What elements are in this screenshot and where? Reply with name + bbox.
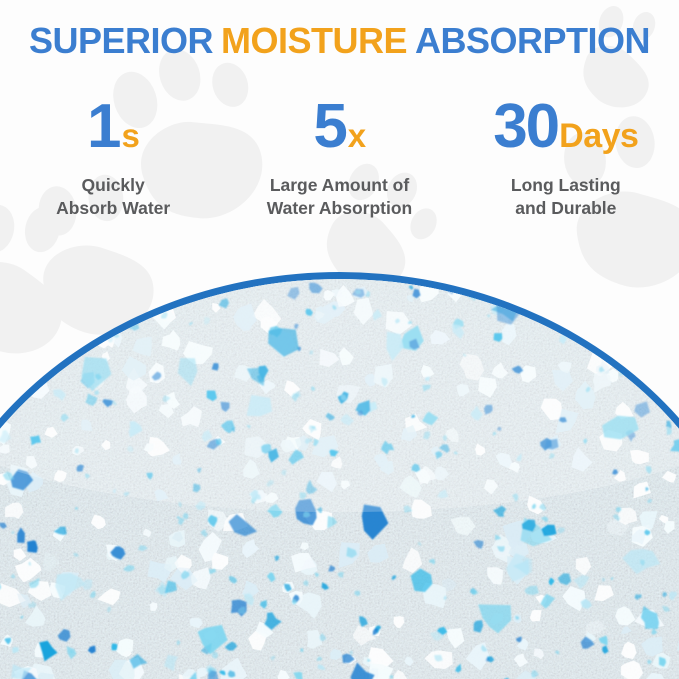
- stat-value: 1 s: [87, 96, 139, 162]
- product-photo-disc: [0, 272, 679, 679]
- stat-value: 30 Days: [493, 96, 638, 162]
- stat-value: 5 x: [313, 96, 365, 162]
- infographic-page: SUPERIORMOISTUREABSORPTION 1 s Quickly A…: [0, 0, 679, 679]
- stat-unit: s: [121, 119, 139, 152]
- crystal-litter-texture: [0, 273, 679, 679]
- stat-number: 30: [493, 96, 558, 158]
- stat-unit: Days: [559, 119, 638, 153]
- title-word-moisture: MOISTURE: [221, 20, 407, 61]
- stat-number: 1: [87, 96, 119, 158]
- stat-unit: x: [348, 119, 366, 152]
- stat-item-absorb-speed: 1 s Quickly Absorb Water: [0, 96, 226, 246]
- stat-item-duration: 30 Days Long Lasting and Durable: [453, 96, 679, 246]
- stat-caption: Long Lasting and Durable: [511, 174, 621, 220]
- title-word-superior: SUPERIOR: [29, 20, 213, 61]
- page-title: SUPERIORMOISTUREABSORPTION: [0, 22, 679, 60]
- stats-row: 1 s Quickly Absorb Water 5 x Large Amoun…: [0, 96, 679, 246]
- stat-caption: Large Amount of Water Absorption: [267, 174, 413, 220]
- stat-caption: Quickly Absorb Water: [56, 174, 170, 220]
- stat-number: 5: [313, 96, 345, 158]
- title-word-absorption: ABSORPTION: [415, 20, 650, 61]
- stat-item-absorb-capacity: 5 x Large Amount of Water Absorption: [226, 96, 452, 246]
